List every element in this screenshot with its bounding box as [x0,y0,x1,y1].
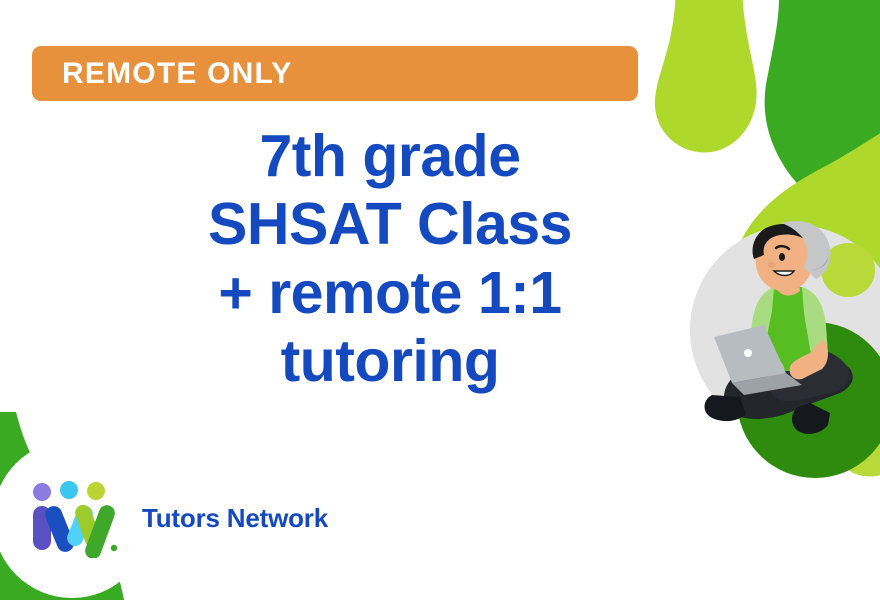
ivy-logo-icon [28,478,120,558]
shoe-right [792,403,830,434]
eye-shape [779,253,785,261]
headline-line-4: tutoring [60,327,720,395]
headline-line-1: 7th grade [60,122,720,190]
logo-dot-y [87,482,105,500]
brand-name: Tutors Network [142,503,328,534]
logo-dot-i [33,483,51,501]
headline: 7th grade SHSAT Class + remote 1:1 tutor… [60,122,720,396]
laptop-logo-icon [744,349,752,357]
headline-line-3: + remote 1:1 [60,259,720,327]
remote-only-badge: REMOTE ONLY [32,46,638,101]
green-wedge-shape [765,0,880,230]
headline-line-2: SHSAT Class [60,190,720,258]
shoe-left [705,395,746,421]
logo-registered-mark-icon [111,545,117,551]
logo-dot-v [60,481,78,499]
badge-label: REMOTE ONLY [62,59,292,89]
brand-lockup: Tutors Network [28,478,328,558]
promo-card: REMOTE ONLY 7th grade SHSAT Class + remo… [0,0,880,600]
